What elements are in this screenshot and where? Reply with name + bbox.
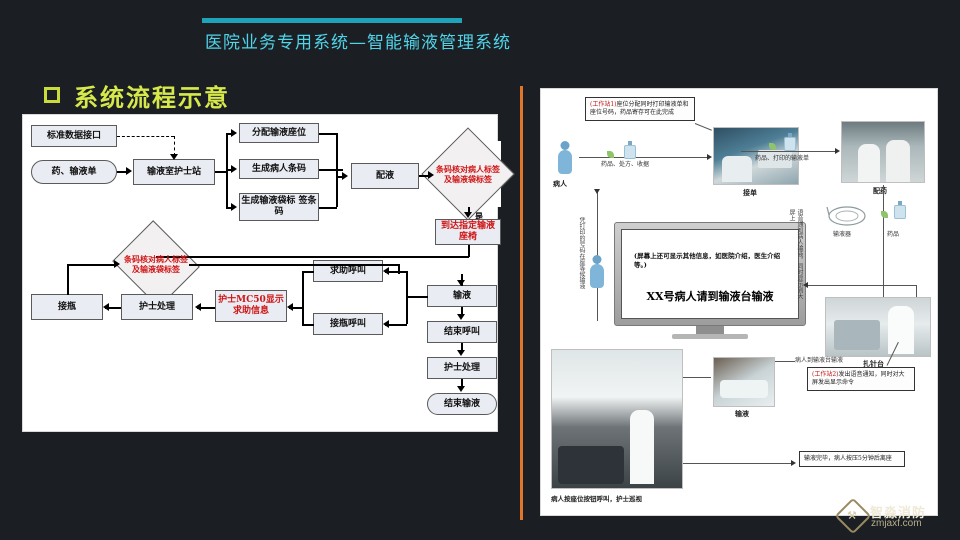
flow-arrow	[287, 303, 293, 311]
flow-node-infusion: 输液	[427, 285, 497, 307]
leaf-icon	[607, 151, 614, 158]
medicine-bottle-icon	[623, 141, 637, 159]
person-head-icon	[593, 255, 602, 264]
flow-node-nurse-handle-2: 护士处理	[427, 357, 497, 379]
flow-edge	[319, 169, 343, 171]
flow-arrow	[383, 320, 389, 328]
callout-connector	[695, 123, 712, 131]
person-head-icon	[561, 141, 570, 150]
photo-nurse-figure	[630, 410, 654, 484]
caption-patient: 病人	[553, 179, 567, 189]
callout-station-1: (工作站1)座位分配同时打印输液单和座位号码，药品寄存可在此完成	[585, 97, 695, 121]
note-printed-order: 药品、打印的输液单	[755, 153, 809, 162]
flow-arrow	[457, 386, 465, 392]
flow-arrow	[428, 171, 434, 179]
photo-figure	[888, 306, 914, 354]
flow-arrow	[195, 303, 201, 311]
flow-arrow	[594, 189, 600, 194]
flow-arrow	[457, 350, 465, 356]
flow-arrow	[103, 303, 109, 311]
tv-screen: (屏幕上还可显示其他信息，如医院介绍，医生介绍等。) XX号病人请到输液台输液	[621, 229, 799, 319]
flow-edge	[302, 271, 304, 324]
flow-arrow	[464, 212, 472, 218]
photo-arm	[720, 380, 768, 398]
medicine-bottle-icon	[783, 133, 797, 151]
flow-node-standard-data-interface: 标准数据接口	[31, 125, 117, 147]
flow-arrow	[126, 167, 132, 175]
photo-fill	[842, 122, 924, 182]
note-medicine: 药品	[887, 229, 899, 238]
tv-primary-text: XX号病人请到输液台输液	[622, 288, 798, 304]
leaf-icon	[769, 143, 776, 150]
flow-node-end-call: 结束呼叫	[427, 321, 497, 343]
flow-arrow	[231, 165, 237, 173]
watermark-subtitle: zmjaxf.com	[871, 518, 922, 529]
flow-connector	[683, 463, 793, 464]
panel-divider	[520, 86, 523, 520]
flow-connector	[807, 285, 917, 286]
photo-figure	[858, 144, 880, 182]
bottle-body-icon	[784, 137, 796, 151]
flowchart-panel: 标准数据接口 药、输液单 输液室护士站 分配输液座位 生成病人条码 生成输液袋标…	[22, 114, 498, 432]
square-bullet-icon	[44, 87, 60, 103]
photo-puncture-desk	[825, 297, 931, 357]
bottle-body-icon	[624, 145, 636, 159]
flow-node-drug-infusion-order: 药、输液单	[31, 160, 117, 184]
flow-edge	[406, 271, 408, 324]
flow-arrow	[170, 154, 178, 160]
note-infusion-set: 输液器	[833, 229, 851, 238]
flow-edge-dashed	[117, 136, 174, 137]
flow-decision-barcode-check-2: 条码核对病人标签及输液袋标签	[123, 235, 189, 293]
header-accent-rule	[202, 18, 462, 23]
flow-edge	[302, 271, 314, 273]
led-display-screen: (屏幕上还可显示其他信息，如医院介绍，医生介绍等。) XX号病人请到输液台输液	[614, 222, 806, 340]
page-title: 医院业务专用系统—智能输液管理系统	[205, 28, 511, 53]
flow-node-assign-seat: 分配输液座位	[239, 123, 319, 143]
caption-seat-call: 病人按座位按钮呼叫，护士巡视	[551, 493, 642, 503]
section-heading: 系统流程示意	[44, 78, 230, 112]
patient-pictogram-icon	[555, 141, 575, 175]
flow-connector	[883, 185, 884, 315]
flow-arrow	[383, 267, 389, 275]
tv-frame: (屏幕上还可显示其他信息，如医院介绍，医生介绍等。) XX号病人请到输液台输液	[614, 222, 806, 326]
note-wait-seat: 凭打印的号码在座等候输液	[577, 217, 585, 311]
flow-edge	[406, 296, 428, 298]
flow-node-nurse-station: 输液室护士站	[133, 159, 215, 185]
flow-node-arrive-seat: 到达指定输液座椅	[435, 219, 501, 245]
person-body-icon	[590, 264, 604, 288]
waiting-patient-pictogram-icon	[587, 255, 607, 289]
flow-arrow	[457, 314, 465, 320]
zhimiao-logo-glyph-icon: ⚒	[847, 510, 859, 522]
callout-station-1-tag: (工作站1)	[590, 101, 617, 108]
photo-seated-patients	[558, 446, 624, 484]
flow-edge	[319, 207, 337, 209]
leaf-icon	[881, 211, 888, 218]
flow-node-nurse-mc50-alert: 护士MC50显示求助信息	[215, 290, 287, 322]
flow-arrow	[114, 260, 120, 268]
photo-infusion	[713, 357, 775, 407]
photo-seats	[834, 320, 880, 350]
photo-figure	[722, 156, 752, 182]
flow-connector	[579, 157, 709, 158]
photo-figure	[886, 140, 910, 182]
photo-seat-area	[551, 349, 683, 489]
flow-edge	[319, 133, 337, 135]
medicine-bottle-icon	[893, 201, 907, 219]
flow-node-nurse-handle-1: 护士处理	[121, 294, 193, 320]
flow-edge	[398, 264, 400, 274]
bottle-body-icon	[894, 205, 906, 219]
flow-edge	[189, 264, 399, 266]
person-body-icon	[558, 150, 572, 174]
flow-decision-barcode-check-1: 条码核对病人标签及输液袋标签	[435, 141, 501, 207]
flow-edge	[302, 324, 314, 326]
tv-stand-neck	[696, 326, 724, 334]
caption-reception: 接单	[743, 188, 757, 198]
flow-node-end-infusion: 结束输液	[427, 393, 497, 415]
flow-arrow	[835, 148, 840, 154]
flow-arrow	[791, 460, 796, 466]
tv-stand-base	[672, 334, 748, 339]
flow-edge	[67, 264, 115, 266]
flow-edge	[156, 256, 469, 258]
photo-dispensing-room	[841, 121, 925, 183]
flow-edge	[336, 176, 344, 178]
tv-secondary-text: (屏幕上还可显示其他信息，如医院介绍，医生介绍等。)	[634, 252, 786, 270]
flow-edge	[67, 264, 69, 295]
note-voice-notice: 语音通知病人输液，同时显示到大屏上	[787, 209, 803, 301]
caption-infusion: 输液	[735, 409, 749, 419]
watermark: ⚒ 智淼消防 zmjaxf.com	[840, 500, 952, 534]
flow-arrow	[231, 129, 237, 137]
flow-node-connect-bottle: 接瓶	[31, 294, 103, 320]
flow-arrow	[457, 280, 465, 286]
flow-arrow	[707, 154, 712, 160]
infusion-set-svg	[825, 201, 869, 231]
flow-node-bottle-call: 接瓶呼叫	[313, 313, 383, 335]
note-goods: 药品、处方、收据	[601, 159, 649, 168]
flow-node-generate-bag-label-barcode: 生成输液袋标 签条码	[239, 193, 319, 221]
flow-arrow	[231, 203, 237, 211]
flow-arrow	[803, 282, 808, 288]
note-to-desk: 病人到输液台输液	[795, 355, 843, 364]
flow-connector	[741, 151, 837, 152]
callout-station-2-tag: (工作站2)	[812, 371, 839, 378]
flow-node-prepare-solution: 配液	[351, 163, 419, 189]
caption-dispensing: 配药	[873, 186, 887, 196]
slide-header: 医院业务专用系统—智能输液管理系统	[0, 0, 960, 62]
callout-station-2: (工作站2)发出语音通知，同时对大屏发出显示命令	[807, 367, 915, 391]
flow-edge-dashed	[174, 136, 175, 156]
flow-node-generate-patient-barcode: 生成病人条码	[239, 159, 319, 179]
workflow-panel: (工作站1)座位分配同时打印输液单和座位号码，药品寄存可在此完成 病人 药品、处…	[540, 88, 938, 516]
section-title: 系统流程示意	[74, 78, 230, 113]
callout-finish: 输液完毕，病人按压5分钟后离座	[799, 451, 905, 467]
